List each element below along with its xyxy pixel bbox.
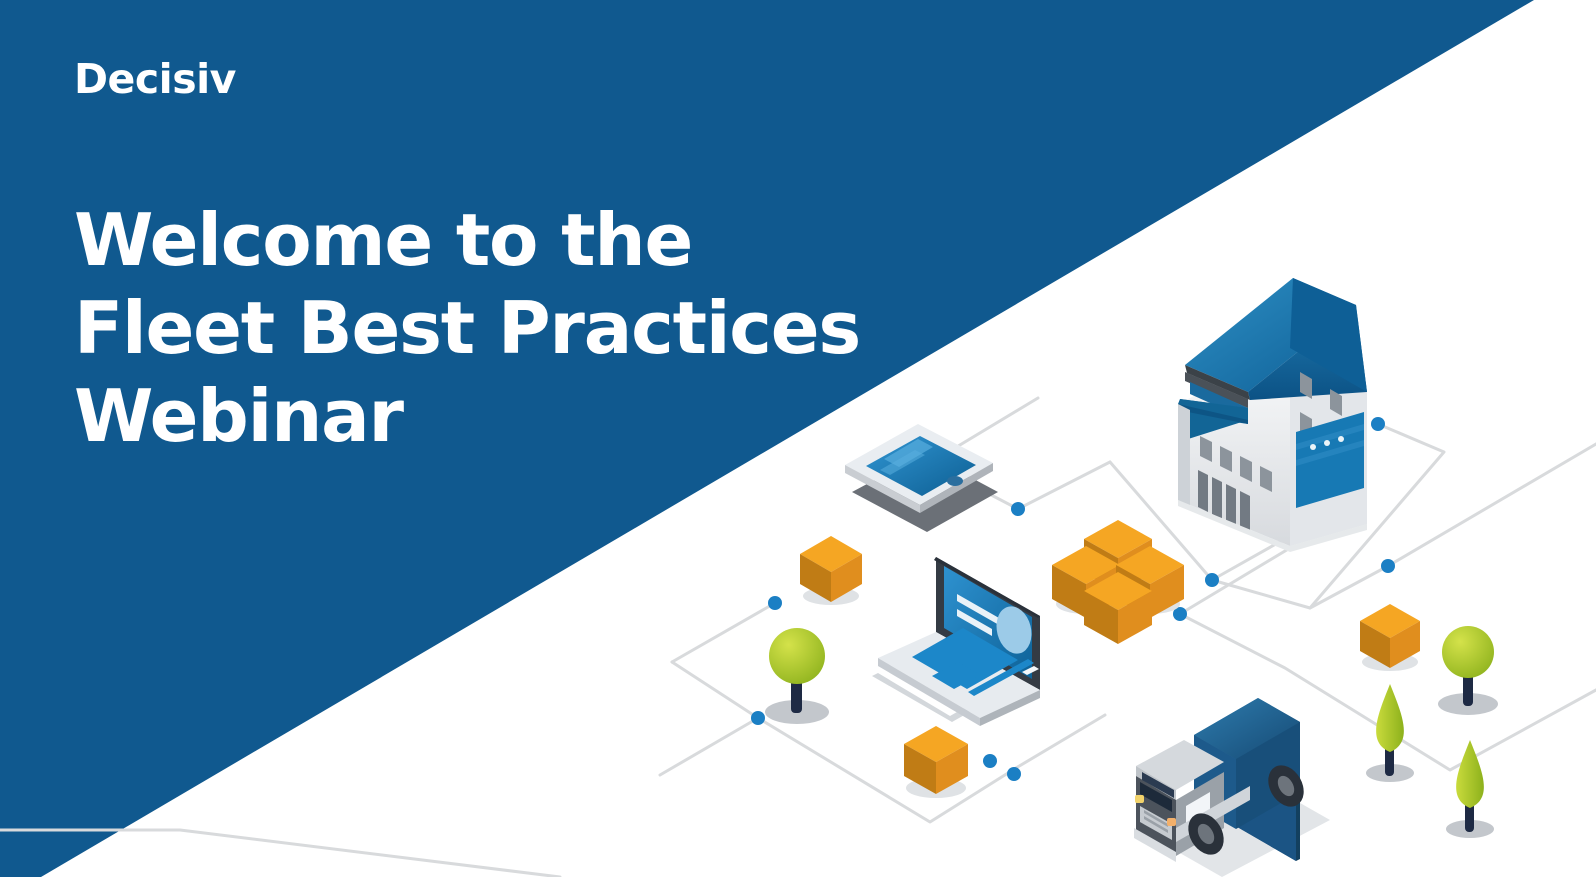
round-tree-right [1438,626,1498,715]
cone-tree-two [1446,740,1494,838]
headline-line-2: Fleet Best Practices [74,284,894,372]
package-cube-right [1360,604,1420,671]
headline-line-1: Welcome to the [74,196,894,284]
package-cube-left [800,536,862,605]
package-cube-cluster [1052,520,1184,644]
logo-wordmark: Decisiv [74,59,236,100]
page-title: Welcome to the Fleet Best Practices Webi… [74,196,894,460]
decisiv-logo: Decisiv [74,57,236,101]
package-cube-bottom [904,726,968,798]
round-tree-left [765,628,829,724]
laptop-device [872,557,1040,726]
delivery-truck [1134,690,1330,877]
cone-tree-one [1366,684,1414,782]
headline-line-3: Webinar [74,372,894,460]
slide-root: Decisiv Welcome to the Fleet Best Practi… [0,0,1596,877]
